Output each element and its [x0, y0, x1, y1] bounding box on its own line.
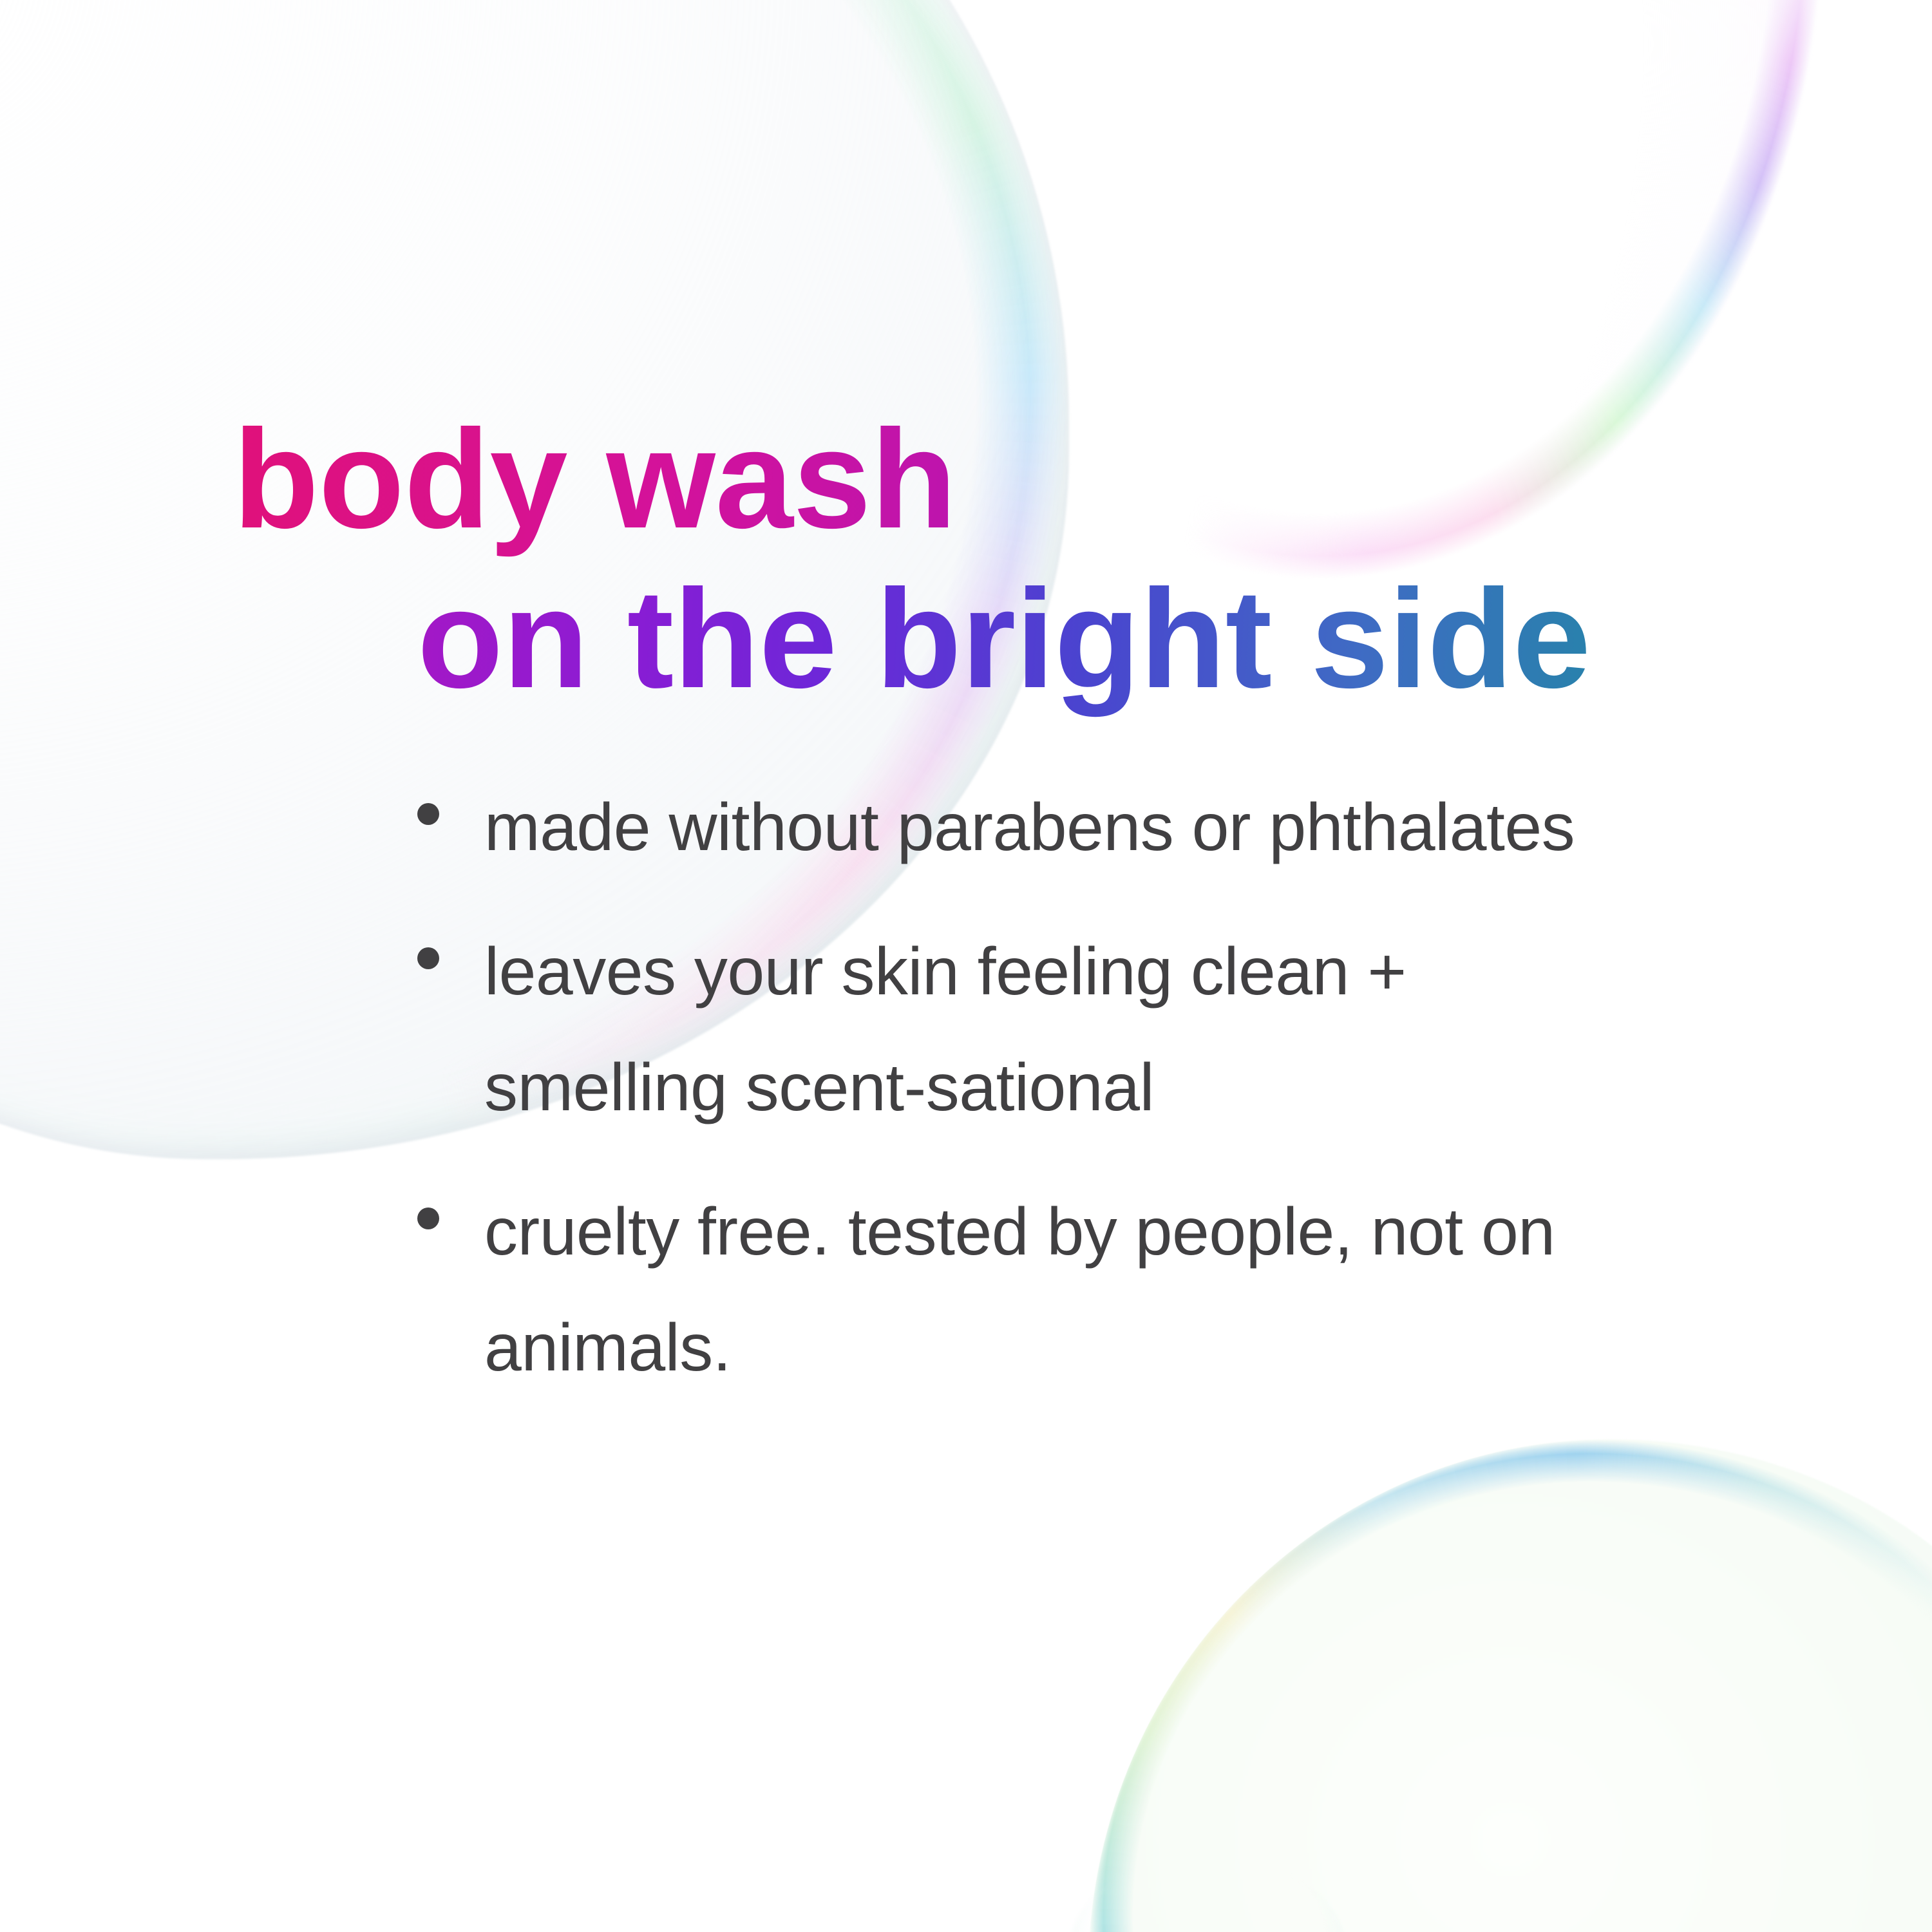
card-content: body wash on the bright side made withou…: [0, 0, 1932, 1932]
feature-text: made without parabens or phthalates: [484, 770, 1656, 885]
list-item: cruelty free. tested by people, not on a…: [417, 1174, 1899, 1406]
headline-line-one: body wash: [233, 400, 1932, 560]
page-title: body wash on the bright side: [0, 400, 1932, 719]
feature-text: leaves your skin feeling clean + smellin…: [484, 914, 1656, 1146]
headline-line-two: on the bright side: [417, 560, 1932, 719]
list-item: made without parabens or phthalates: [417, 770, 1899, 885]
product-feature-card: body wash on the bright side made withou…: [0, 0, 1932, 1932]
bullet-dot-icon: [417, 803, 439, 825]
list-item: leaves your skin feeling clean + smellin…: [417, 914, 1899, 1146]
feature-bullet-list: made without parabens or phthalates leav…: [417, 770, 1899, 1434]
bullet-dot-icon: [417, 947, 439, 969]
bullet-dot-icon: [417, 1207, 439, 1229]
feature-text: cruelty free. tested by people, not on a…: [484, 1174, 1656, 1406]
